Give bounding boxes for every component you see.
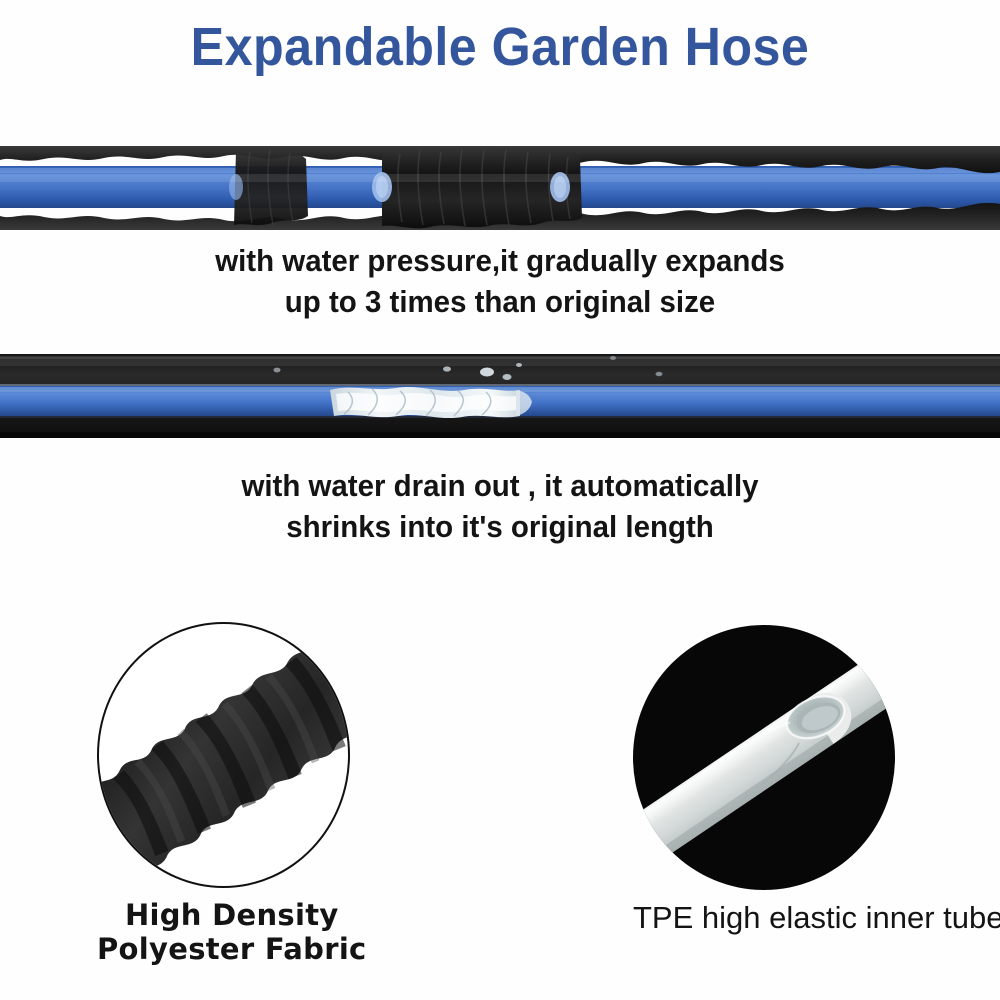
caption-line-2: up to 3 times than original size: [25, 281, 975, 322]
infographic-page: Expandable Garden Hose: [0, 0, 1000, 1000]
high-density-polyester-fabric-photo: [97, 622, 350, 888]
caption-line-2: shrinks into it's original length: [25, 506, 975, 547]
tpe-inner-tube-photo: [633, 625, 895, 890]
feature-tpe-inner-tube: TPE high elastic inner tube: [633, 625, 1000, 936]
caption-line-1: with water pressure,it gradually expands: [25, 240, 975, 281]
feature-high-density-polyester-fabric: High Density Polyester Fabric: [97, 622, 367, 966]
feature-label-line-1: TPE high elastic inner tube: [633, 900, 1000, 936]
expanded-hose-photo: [0, 146, 1000, 230]
expanded-hose-caption: with water pressure,it gradually expands…: [25, 240, 975, 322]
contracted-hose-caption: with water drain out , it automatically …: [25, 465, 975, 547]
feature-label-tpe-tube: TPE high elastic inner tube: [633, 900, 1000, 936]
feature-label-fabric: High Density Polyester Fabric: [97, 898, 367, 966]
caption-line-1: with water drain out , it automatically: [25, 465, 975, 506]
contracted-hose-photo: [0, 350, 1000, 440]
page-title: Expandable Garden Hose: [35, 16, 965, 78]
feature-label-line-1: High Density: [97, 898, 367, 932]
feature-label-line-2: Polyester Fabric: [97, 932, 367, 966]
